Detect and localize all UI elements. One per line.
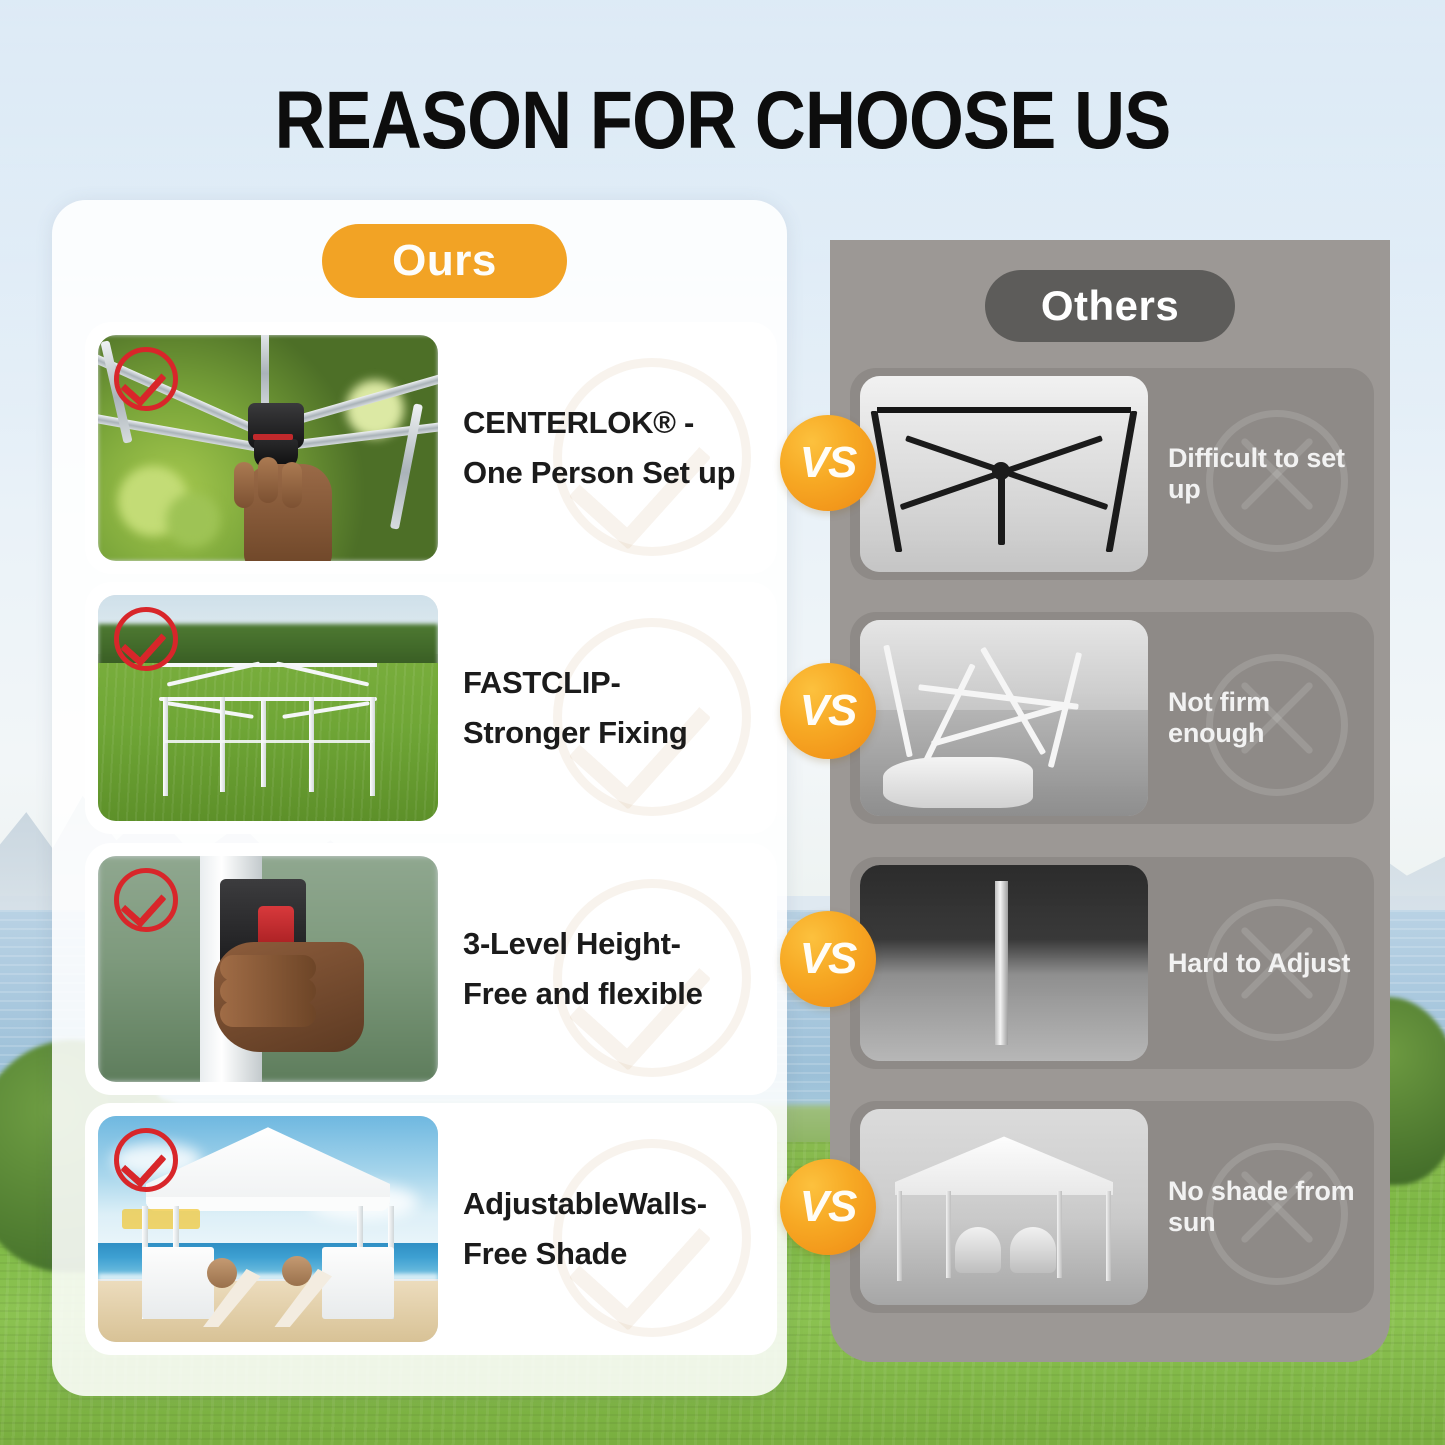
page-title: REASON FOR CHOOSE US [101,78,1344,164]
ours-row-label: CENTERLOK® - One Person Set up [463,322,763,574]
others-row: No shade from sun [850,1101,1374,1313]
single-pole-photo [860,865,1148,1061]
ours-row: AdjustableWalls- Free Shade [85,1103,777,1355]
canopy-no-walls-photo [860,1109,1148,1305]
brand-logo-on-canopy [122,1209,200,1229]
ours-row-label-line1: AdjustableWalls- [463,1179,763,1229]
collapsed-tent-photo [860,620,1148,816]
red-check-icon [114,1128,178,1192]
ours-row-label-line2: Free Shade [463,1229,763,1279]
red-check-icon [114,607,178,671]
others-row: Difficult to set up [850,368,1374,580]
red-check-icon [114,347,178,411]
others-row-label: No shade from sun [1168,1101,1368,1313]
canopy-frame-on-grass-photo [98,595,438,821]
others-badge: Others [985,270,1235,342]
ours-row-label-line2: Free and flexible [463,969,763,1019]
ours-row-label-line1: FASTCLIP- [463,658,763,708]
ours-badge: Ours [322,224,567,298]
vs-badge: VS [780,663,876,759]
others-row-label: Not firm enough [1168,612,1368,824]
ours-row-label-line1: CENTERLOK® - [463,398,763,448]
ours-row-label-line2: One Person Set up [463,448,763,498]
canopy-center-hub-photo [98,335,438,561]
ours-row-label: 3-Level Height- Free and flexible [463,843,763,1095]
infographic-canvas: REASON FOR CHOOSE US Others Difficult to… [0,0,1445,1445]
ours-row-label-line2: Stronger Fixing [463,708,763,758]
others-row-label: Difficult to set up [1168,368,1368,580]
beach-canopy-with-walls-photo [98,1116,438,1342]
ours-row: FASTCLIP- Stronger Fixing [85,582,777,834]
vs-badge: VS [780,415,876,511]
others-row-label: Hard to Adjust [1168,857,1368,1069]
black-frame-canopy-photo [860,376,1148,572]
height-adjust-button-photo [98,856,438,1082]
ours-row-label-line1: 3-Level Height- [463,919,763,969]
ours-panel: Ours [52,200,787,1396]
ours-row: 3-Level Height- Free and flexible [85,843,777,1095]
red-check-icon [114,868,178,932]
others-row: Not firm enough [850,612,1374,824]
others-row: Hard to Adjust [850,857,1374,1069]
vs-badge: VS [780,911,876,1007]
ours-row-label: FASTCLIP- Stronger Fixing [463,582,763,834]
ours-row: CENTERLOK® - One Person Set up [85,322,777,574]
others-panel: Others Difficult to set up [830,240,1390,1362]
ours-row-label: AdjustableWalls- Free Shade [463,1103,763,1355]
vs-badge: VS [780,1159,876,1255]
